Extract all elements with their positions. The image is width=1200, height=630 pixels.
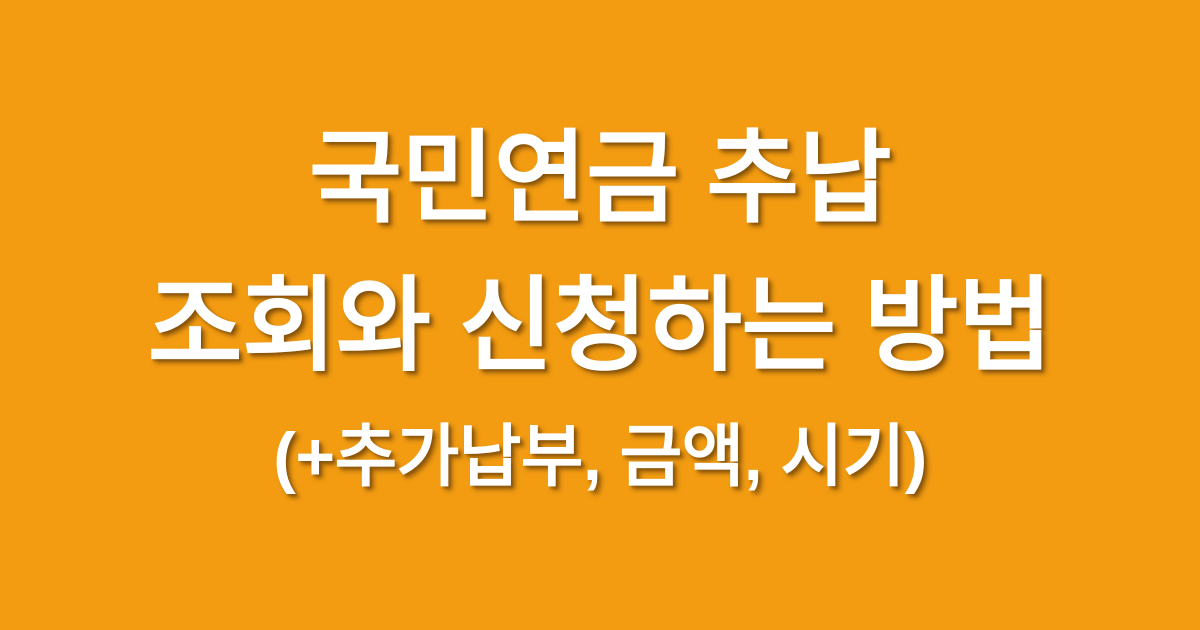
subtitle-text: (+추가납부, 금액, 시기) bbox=[273, 417, 927, 499]
title-block: 국민연금 추납 조회와 신청하는 방법 (+추가납부, 금액, 시기) bbox=[0, 118, 1200, 498]
headline-line-2: 조회와 신청하는 방법 bbox=[148, 263, 1053, 389]
thumbnail-card: 국민연금 추납 조회와 신청하는 방법 (+추가납부, 금액, 시기) bbox=[0, 0, 1200, 630]
headline-line-1: 국민연금 추납 bbox=[309, 118, 891, 241]
